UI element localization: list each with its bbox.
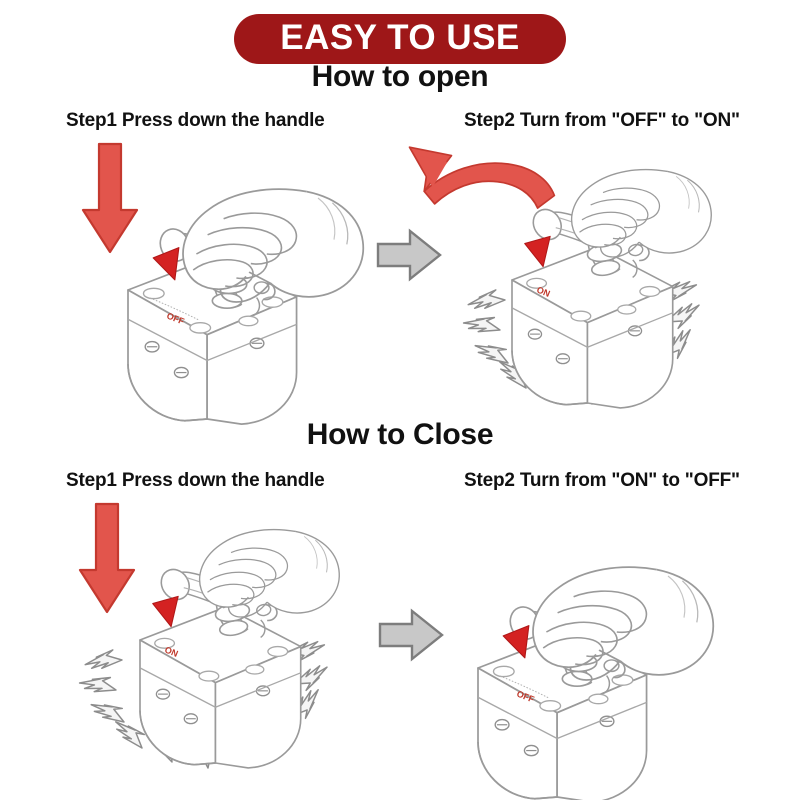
panel-open-step1: OFF bbox=[83, 144, 363, 424]
arrow-right-icon-close-transition bbox=[380, 611, 442, 659]
illustration-layer: OFF bbox=[0, 0, 800, 800]
arrow-curved-ccw-icon-open-step2 bbox=[410, 147, 555, 208]
hand-illustration-open-step2 bbox=[572, 170, 712, 257]
hand-illustration-open-step1 bbox=[183, 189, 363, 302]
arrow-right-icon-open-transition bbox=[378, 231, 440, 279]
arrow-down-icon-close-step1 bbox=[80, 504, 134, 612]
infographic-page: EASY TO USE How to open How to Close Ste… bbox=[0, 0, 800, 800]
hand-illustration-close-step1 bbox=[200, 530, 340, 617]
panel-open-step2: ON bbox=[410, 147, 712, 408]
hand-illustration-close-step2 bbox=[533, 567, 713, 680]
arrow-down-icon-open-step1 bbox=[83, 144, 137, 252]
panel-close-step2: OFF bbox=[478, 567, 713, 800]
panel-close-step1: ON bbox=[78, 504, 339, 769]
